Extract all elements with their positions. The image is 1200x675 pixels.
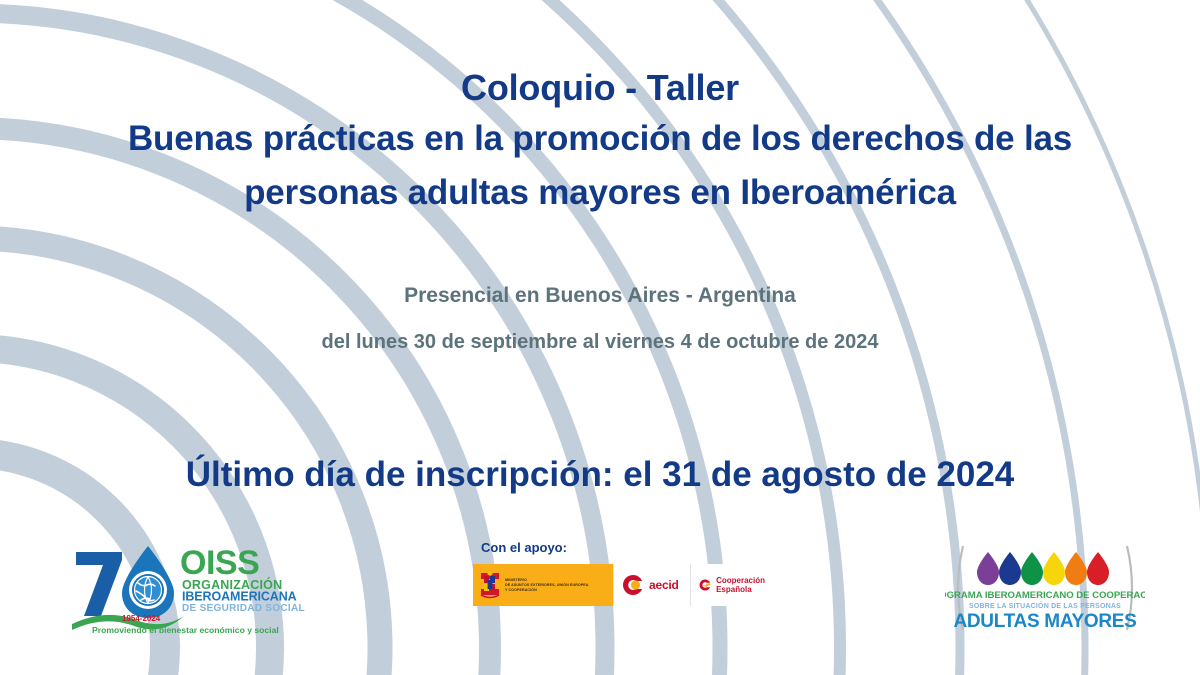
- support-label: Con el apoyo:: [481, 540, 785, 555]
- oiss-name-line-3: DE SEGURIDAD SOCIAL: [182, 603, 305, 614]
- support-block: Con el apoyo: MINISTE: [455, 540, 785, 606]
- oiss-name-line-2: IBEROAMERICANA: [182, 590, 297, 604]
- cooperacion-espanola-label: Cooperación Española: [716, 576, 765, 595]
- oiss-acronym: OISS: [180, 544, 259, 582]
- droplet-orange: [1065, 552, 1087, 585]
- headline-line-1: Coloquio - Taller: [0, 64, 1200, 112]
- aecid-label: aecid: [649, 578, 679, 592]
- programa-adultas-mayores-logo: PROGRAMA IBEROAMERICANO DE COOPERACIÓN S…: [945, 538, 1145, 638]
- droplets-group: [977, 552, 1109, 585]
- gob-line-2: DE ASUNTOS EXTERIORES, UNIÓN EUROPEA: [505, 583, 588, 588]
- sponsor-aecid: aecid: [613, 564, 690, 606]
- event-dates: del lunes 30 de septiembre al viernes 4 …: [0, 326, 1200, 358]
- event-location: Presencial en Buenos Aires - Argentina: [0, 280, 1200, 312]
- droplet-green: [1021, 552, 1043, 585]
- droplet-yellow: [1043, 552, 1065, 585]
- sponsor-gobierno-espana: MINISTERIO DE ASUNTOS EXTERIORES, UNIÓN …: [473, 564, 613, 606]
- gob-line-3: Y COOPERACIÓN: [505, 588, 588, 593]
- droplet-red: [1087, 552, 1109, 585]
- programa-line-2: SOBRE LA SITUACIÓN DE LAS PERSONAS: [969, 601, 1121, 610]
- droplet-blue: [999, 552, 1021, 585]
- coop-line-1: Cooperación: [716, 576, 765, 585]
- droplet-purple: [977, 552, 999, 585]
- programa-line-3: ADULTAS MAYORES: [953, 611, 1136, 632]
- aecid-c-icon: [622, 574, 644, 596]
- sponsor-strip: MINISTERIO DE ASUNTOS EXTERIORES, UNIÓN …: [473, 564, 773, 606]
- oiss-anniversary-years: 1954-2024: [122, 614, 161, 623]
- oiss-tagline: Promoviendo el bienestar económico y soc…: [92, 625, 279, 635]
- headline-line-3: personas adultas mayores en Iberoamérica: [0, 166, 1200, 220]
- programa-line-1: PROGRAMA IBEROAMERICANO DE COOPERACIÓN: [945, 589, 1145, 601]
- oiss-droplet-globe-icon: [122, 546, 174, 618]
- cooperacion-espanola-c-icon: [699, 574, 711, 596]
- spain-coat-of-arms-icon: [480, 570, 500, 600]
- headline-line-2: Buenas prácticas en la promoción de los …: [0, 112, 1200, 166]
- subtitle-block: Presencial en Buenos Aires - Argentina d…: [0, 280, 1200, 358]
- sponsor-gobierno-text: MINISTERIO DE ASUNTOS EXTERIORES, UNIÓN …: [505, 578, 588, 593]
- coop-line-2: Española: [716, 585, 752, 594]
- oiss-anniversary-number: [76, 552, 122, 616]
- oiss-logo: OISS ORGANIZACIÓN IBEROAMERICANA DE SEGU…: [70, 538, 310, 638]
- registration-deadline: Último día de inscripción: el 31 de agos…: [0, 452, 1200, 498]
- headline-block: Coloquio - Taller Buenas prácticas en la…: [0, 64, 1200, 220]
- sponsor-cooperacion-espanola: Cooperación Española: [690, 564, 773, 606]
- poster: Coloquio - Taller Buenas prácticas en la…: [0, 0, 1200, 675]
